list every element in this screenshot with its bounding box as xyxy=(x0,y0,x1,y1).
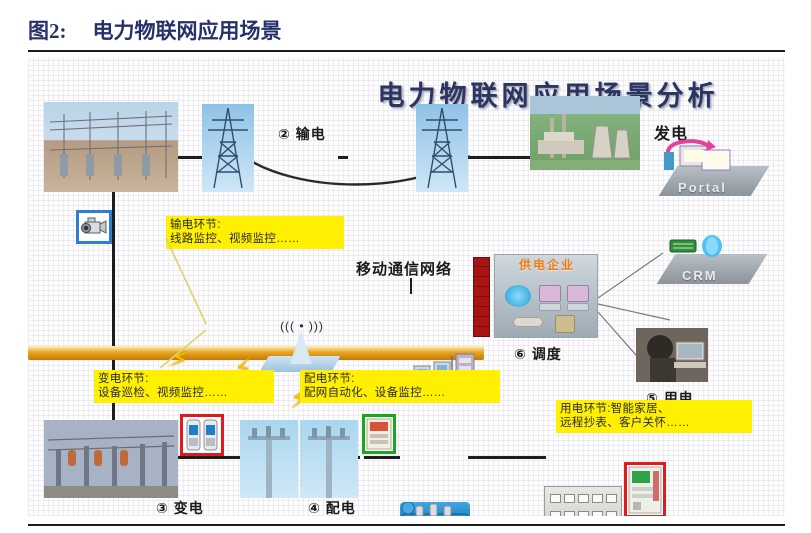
enterprise-label: 供电企业 xyxy=(498,256,596,273)
node-label-distribution: ④ 配电 xyxy=(308,498,356,516)
callout-leaders xyxy=(88,238,388,378)
photo-substation xyxy=(44,420,178,498)
firewall-icon xyxy=(473,257,490,337)
crm-server-icon xyxy=(652,230,752,262)
photo-power-plant xyxy=(530,96,640,170)
footer-divider xyxy=(28,524,785,526)
smart-meter-icon[interactable] xyxy=(624,462,666,516)
photo-consumption-user xyxy=(636,328,708,382)
photo-pole-1 xyxy=(240,420,298,498)
portal-screens-icon xyxy=(652,138,752,174)
crm-label: CRM xyxy=(682,268,718,283)
figure-header: 图2: 电力物联网应用场景 xyxy=(28,8,788,52)
callout-consumption: 用电环节:智能家居、 远程抄表、客户关怀…… xyxy=(556,400,752,433)
photo-transmission-substation xyxy=(44,102,178,192)
distribution-terminal-icon[interactable] xyxy=(362,414,396,454)
node-label-dispatch: ⑥ 调度 xyxy=(514,344,562,364)
photo-pylon-1 xyxy=(202,104,254,192)
node-label-substation: ③ 变电 xyxy=(156,498,204,516)
transformer-icon xyxy=(400,502,470,516)
node-label-transmission: ② 输电 xyxy=(278,124,326,144)
mobile-network-pointer xyxy=(410,278,412,294)
header-divider xyxy=(28,50,785,52)
figure-canvas: 电力物联网应用场景分析 xyxy=(28,58,785,516)
figure-page: 图2: 电力物联网应用场景 电力物联网应用场景分析 xyxy=(0,0,811,533)
figure-number: 图2: xyxy=(28,15,67,45)
photo-pylon-2 xyxy=(416,104,468,192)
figure-title: 电力物联网应用场景 xyxy=(93,15,282,45)
meter-cabinet xyxy=(544,486,622,516)
portal-label: Portal xyxy=(678,180,727,195)
handheld-terminal-icon[interactable] xyxy=(180,414,224,456)
link-substation-pole xyxy=(176,456,240,459)
photo-pole-2 xyxy=(300,420,358,498)
